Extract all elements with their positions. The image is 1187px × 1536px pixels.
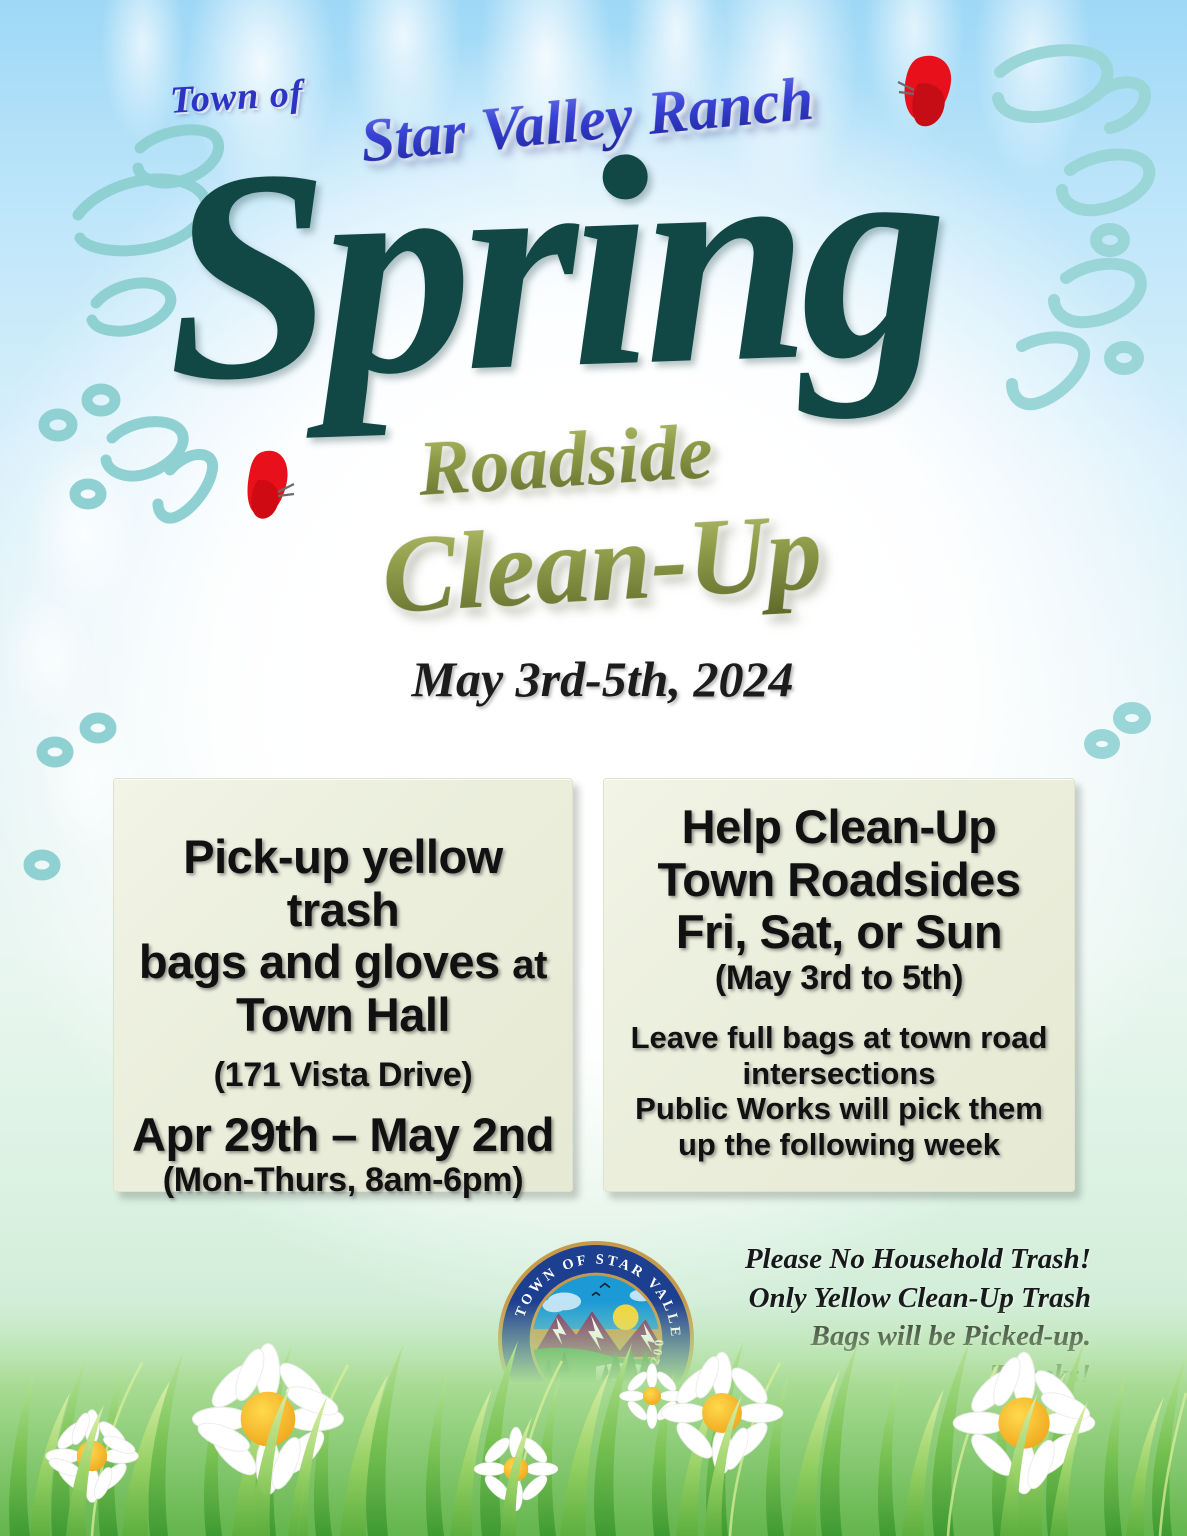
event-date: May 3rd-5th, 2024: [0, 650, 1187, 708]
swirl-icon: [92, 283, 171, 331]
dot-icon: [42, 742, 68, 762]
volunteer-line-8: up the following week: [616, 1127, 1062, 1163]
pickup-line-1: Pick-up yellow trash: [128, 831, 558, 936]
info-boxes-container: Pick-up yellow trash bags and gloves at …: [0, 778, 1187, 1198]
dot-icon: [1090, 735, 1114, 753]
volunteer-line-3: Fri, Sat, or Sun: [616, 906, 1062, 959]
info-box-pickup: Pick-up yellow trash bags and gloves at …: [113, 778, 573, 1192]
dot-icon: [75, 484, 101, 504]
butterfly-icon: [248, 451, 294, 519]
subtitle-cleanup: Clean-Up: [379, 488, 825, 639]
volunteer-line-6: intersections: [616, 1056, 1062, 1092]
dot-icon: [85, 718, 111, 738]
main-title-spring: Spring: [160, 96, 1070, 427]
swirl-icon: [1096, 82, 1145, 128]
pickup-hours: (Mon-Thurs, 8am-6pm): [128, 1161, 558, 1200]
pickup-dates: Apr 29th – May 2nd: [128, 1109, 558, 1162]
spacer: [616, 998, 1062, 1020]
swirl-icon: [158, 454, 213, 518]
note-line-1: Please No Household Trash!: [691, 1240, 1091, 1279]
volunteer-line-1: Help Clean-Up: [616, 801, 1062, 854]
volunteer-line-4-dates: (May 3rd to 5th): [616, 959, 1062, 998]
pickup-line-2: bags and gloves at: [128, 936, 558, 989]
pickup-line-3-townhall: Town Hall: [128, 989, 558, 1042]
dot-icon: [87, 389, 115, 411]
volunteer-line-2: Town Roadsides: [616, 854, 1062, 907]
spacer: [128, 1095, 558, 1109]
volunteer-line-7: Public Works will pick them: [616, 1091, 1062, 1127]
grass-footer-illustration: [0, 1301, 1187, 1536]
spacer: [128, 1042, 558, 1056]
dot-icon: [1119, 708, 1145, 728]
volunteer-line-5: Leave full bags at town road: [616, 1020, 1062, 1056]
dot-icon: [44, 414, 72, 436]
dot-icon: [1110, 347, 1138, 369]
pickup-line-2-at: at: [512, 943, 547, 987]
swirl-icon: [1062, 154, 1149, 210]
dot-icon: [1096, 229, 1124, 251]
pickup-line-2-main: bags and gloves: [139, 935, 500, 988]
info-box-volunteer: Help Clean-Up Town Roadsides Fri, Sat, o…: [603, 778, 1075, 1192]
pickup-address: (171 Vista Drive): [128, 1056, 558, 1095]
poster-root: Town of Star Valley Ranch Spring Roadsid…: [0, 0, 1187, 1536]
